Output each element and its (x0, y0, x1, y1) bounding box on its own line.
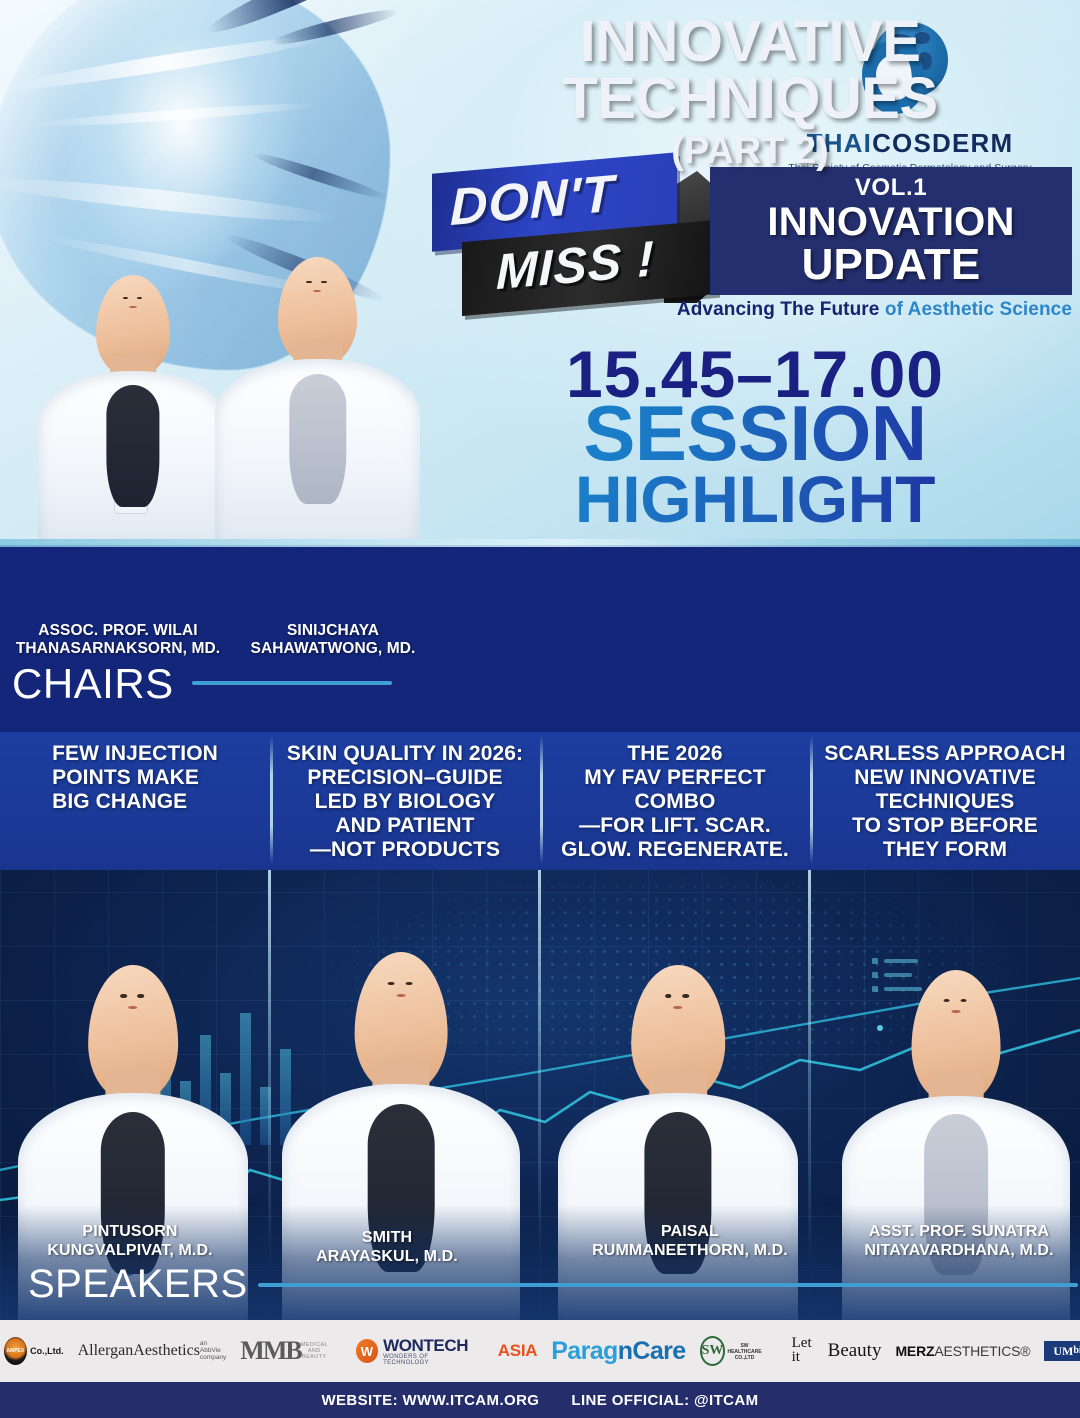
sponsor-bar: Aesthetics By AMPEX Co.,Ltd. Allergan Ae… (0, 1320, 1080, 1382)
tagline-accent: of Aesthetic Science (885, 299, 1072, 320)
chair-portrait-1 (38, 245, 228, 545)
banner-line-1: INNOVATION (710, 202, 1072, 243)
chairs-divider-rule (192, 681, 392, 685)
sponsor-merz: MERZ AESTHETICS® (895, 1343, 1030, 1359)
volume-label: VOL.1 (710, 174, 1072, 202)
speakers-section-label: SPEAKERS (28, 1262, 248, 1307)
letit-line-1: Let it (792, 1337, 812, 1365)
topic-column-4: SCARLESS APPROACHNEW INNOVATIVETECHNIQUE… (810, 732, 1080, 870)
letit-line-2: Beauty (812, 1342, 882, 1359)
topic-title-1: FEW INJECTIONPOINTS MAKEBIG CHANGE (52, 742, 218, 814)
topic-column-2: SKIN QUALITY IN 2026:PRECISION–GUIDELED … (270, 732, 540, 870)
page-title: INNOVATIVE TECHNIQUES (440, 14, 1060, 128)
topic-title-2: SKIN QUALITY IN 2026:PRECISION–GUIDELED … (287, 742, 523, 862)
title-line-2: TECHNIQUES (440, 71, 1060, 128)
sw-subtitle: SW HEALTHCARE CO.,LTD (725, 1343, 763, 1361)
chair-portrait-2 (215, 225, 420, 545)
wontech-name: WONTECH (383, 1337, 470, 1354)
tagline-plain: Advancing The Future (677, 299, 885, 320)
sponsor-ampex: Aesthetics By AMPEX Co.,Ltd. (0, 1337, 64, 1365)
topic-column-1: FEW INJECTIONPOINTS MAKEBIG CHANGE (0, 732, 270, 870)
paragon-part-1: Parag (551, 1337, 617, 1366)
sponsor-allergan: Allergan Aesthetics an AbbVie company (78, 1340, 227, 1361)
um-line-1: UM (1053, 1345, 1073, 1357)
dont-miss-banner: DON'T MISS ! VOL.1 INNOVATION UPDATE Adv… (432, 163, 1072, 323)
um-line-2: biotech (1073, 1346, 1080, 1356)
topic-title-3: THE 2026MY FAV PERFECT COMBO—FOR LIFT. S… (546, 742, 804, 862)
footer-line-official: LINE OFFICIAL: @ITCAM (571, 1392, 758, 1409)
topic-title-4: SCARLESS APPROACHNEW INNOVATIVETECHNIQUE… (824, 742, 1065, 862)
wontech-tagline: WONDERS OF TECHNOLOGY (383, 1354, 470, 1366)
sw-circle-icon: SW (700, 1336, 726, 1366)
footer-bar: WEBSITE: WWW.ITCAM.ORG LINE OFFICIAL: @I… (0, 1382, 1080, 1418)
sponsor-wontech: W WONTECH WONDERS OF TECHNOLOGY (356, 1337, 470, 1366)
title-line-1: INNOVATIVE (440, 14, 1060, 71)
title-part-label: (PART 2) (440, 130, 1060, 173)
sponsor-um-biotech: UM biotech UM BIOTECH CO.,LTD (1044, 1341, 1080, 1361)
ampex-suffix: Co.,Ltd. (30, 1346, 64, 1356)
sponsor-letit-beauty: Let it Beauty (792, 1337, 882, 1365)
ampex-seal-icon: AMPEX (4, 1337, 28, 1365)
merz-name: MERZ (895, 1343, 934, 1359)
topic-column-3: THE 2026MY FAV PERFECT COMBO—FOR LIFT. S… (540, 732, 810, 870)
banner-tagline: Advancing The Future of Aesthetic Scienc… (610, 299, 1072, 321)
chair-name-1: ASSOC. PROF. WILAITHANASARNAKSORN, MD. (8, 622, 228, 659)
wontech-mark-icon: W (356, 1339, 378, 1363)
allergan-line-1: Allergan (78, 1343, 134, 1360)
highlight-word: HIGHLIGHT (520, 468, 990, 531)
footer-website: WEBSITE: WWW.ITCAM.ORG (321, 1392, 539, 1409)
banner-line-2: UPDATE (710, 243, 1072, 288)
speaker-name-4: ASST. PROF. SUNATRANITAYAVARDHANA, M.D. (838, 1222, 1080, 1260)
dont-text: DON'T (450, 164, 615, 238)
sponsor-mmb: MMB MEDICAL AND BEAUTY (240, 1336, 327, 1366)
allergan-line-2: Aesthetics (133, 1343, 200, 1360)
chairs-section-label: CHAIRS (12, 660, 174, 708)
sponsor-paragoncare: ParagnCare (551, 1337, 685, 1366)
session-word: SESSION (520, 398, 990, 470)
chair-name-2: SINIJCHAYASAHAWATWONG, MD. (228, 622, 438, 659)
mmb-mark: MMB (240, 1336, 300, 1366)
allergan-line-3: an AbbVie company (200, 1341, 226, 1361)
event-poster: THAICOSDERM Thai Society of Cosmetic Der… (0, 0, 1080, 1418)
paragon-part-2: nCare (618, 1337, 686, 1366)
topics-row: FEW INJECTIONPOINTS MAKEBIG CHANGE SKIN … (0, 732, 1080, 870)
speaker-name-1: PINTUSORNKUNGVALPIVAT, M.D. (5, 1222, 255, 1260)
ampex-prefix: Aesthetics By (0, 1341, 1, 1361)
speakers-divider-rule (258, 1283, 1078, 1287)
sponsor-sw-healthcare: SW SW HEALTHCARE CO.,LTD (700, 1336, 764, 1366)
speaker-name-2: SMITHARAYASKUL, M.D. (262, 1228, 512, 1266)
sponsor-asia: ASIA (498, 1341, 537, 1361)
miss-text: MISS ! (496, 229, 655, 301)
innovation-update-box: VOL.1 INNOVATION UPDATE (710, 167, 1072, 295)
merz-aesthetics: AESTHETICS® (934, 1343, 1030, 1359)
speaker-name-3: PAISALRUMMANEETHORN, M.D. (560, 1222, 820, 1260)
mmb-subtitle: MEDICAL AND BEAUTY (301, 1342, 328, 1360)
